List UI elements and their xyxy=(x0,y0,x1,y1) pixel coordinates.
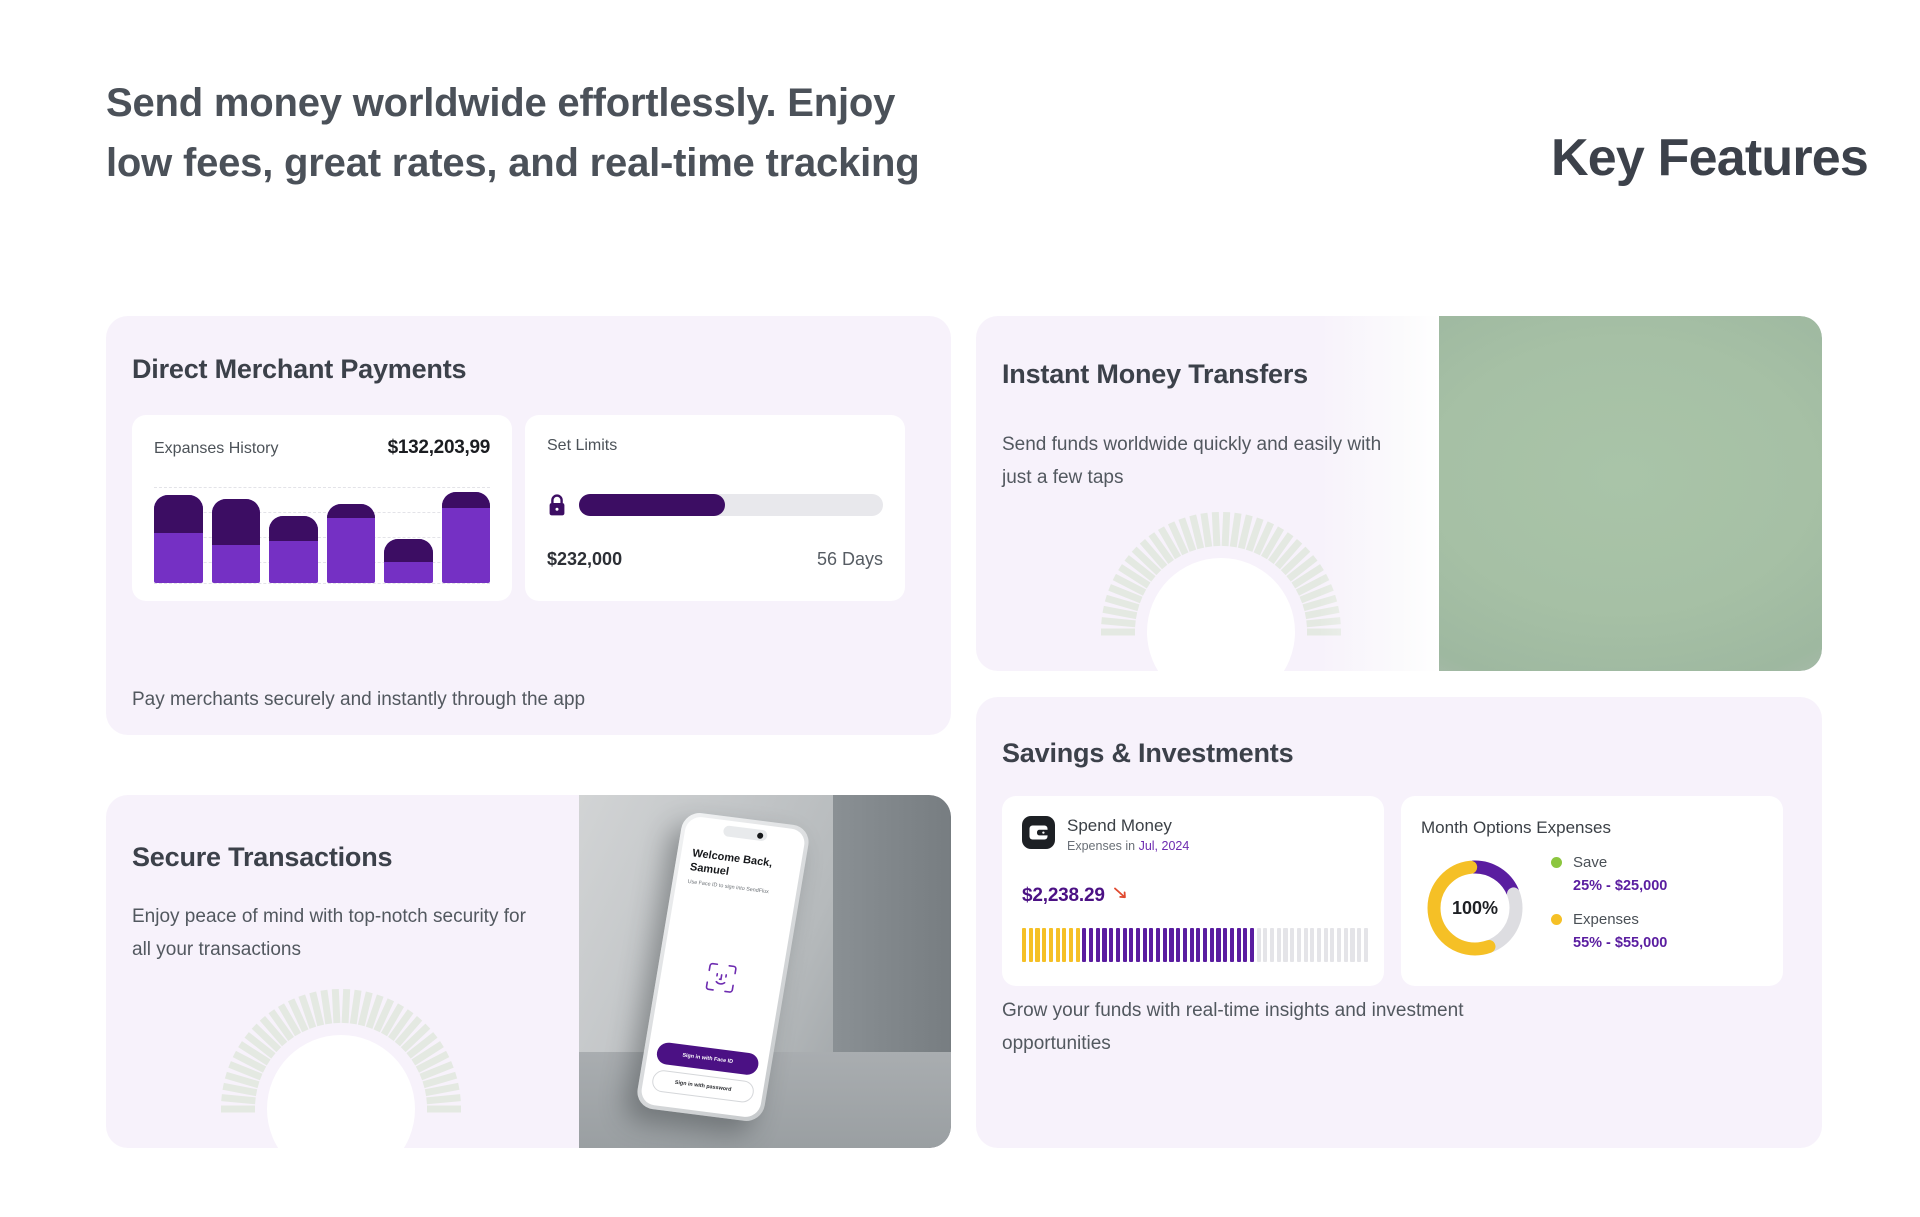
lock-icon xyxy=(547,493,567,517)
activity-strip-bar xyxy=(1062,928,1066,962)
sunburst-tick xyxy=(271,1011,291,1039)
chart-bar-top-segment xyxy=(384,539,433,562)
sunburst-tick xyxy=(1283,549,1308,572)
limit-slider-track[interactable] xyxy=(579,494,883,516)
activity-strip-bar xyxy=(1163,928,1167,962)
sunburst-tick xyxy=(1134,549,1159,572)
donut-center-value: 100% xyxy=(1421,854,1529,962)
sunburst-tick xyxy=(1293,567,1322,585)
secure-phone-photo: Welcome Back, Samuel Use Face ID to sign… xyxy=(579,795,951,1148)
activity-strip-bar xyxy=(1270,928,1274,962)
sunburst-tick xyxy=(1277,541,1299,567)
phone-notch xyxy=(723,825,768,841)
activity-strip-bar xyxy=(1203,928,1207,962)
activity-strip-bar xyxy=(1337,928,1341,962)
sunburst-tick xyxy=(1249,519,1260,551)
legend-dot xyxy=(1551,857,1562,868)
activity-strip-bar xyxy=(1277,928,1281,962)
chart-bar xyxy=(442,492,491,583)
chart-bar xyxy=(327,504,376,583)
chart-bar xyxy=(269,516,318,583)
sunburst-tick xyxy=(403,1026,428,1049)
sunburst-tick xyxy=(1193,515,1201,548)
limit-amount: $232,000 xyxy=(547,549,622,570)
panel-set-limits[interactable]: Set Limits $232,000 56 Days xyxy=(525,415,905,601)
sunburst-tick xyxy=(1142,541,1164,567)
sunburst-tick xyxy=(234,1054,264,1070)
activity-strip-bar xyxy=(1082,928,1086,962)
spend-period-prefix: Expenses in xyxy=(1067,839,1139,853)
card-caption-savings: Grow your funds with real-time insights … xyxy=(1002,994,1522,1060)
sunburst-tick xyxy=(384,1005,401,1034)
sunburst-tick xyxy=(397,1018,419,1044)
activity-strip-bar xyxy=(1129,928,1133,962)
sunburst-tick xyxy=(1204,513,1209,547)
legend-label: Expenses xyxy=(1573,911,1639,928)
activity-strip-bar xyxy=(1223,928,1227,962)
sunburst-tick xyxy=(1103,609,1136,615)
sunburst-tick xyxy=(223,1086,256,1092)
activity-strip-bar xyxy=(1109,928,1113,962)
sunburst-tick xyxy=(1127,558,1154,579)
activity-strip-bar xyxy=(1290,928,1294,962)
sunburst-tick xyxy=(302,996,313,1028)
chart-bars xyxy=(154,487,490,583)
activity-strip-bar xyxy=(1344,928,1348,962)
sunburst-tick xyxy=(377,1000,391,1031)
sunburst-tick xyxy=(1171,523,1185,554)
activity-strip-bar xyxy=(1297,928,1301,962)
sunburst-tick xyxy=(417,1054,447,1070)
sunburst-tick xyxy=(1106,598,1139,608)
activity-strip-bar xyxy=(1304,928,1308,962)
spend-money-amount-row: $2,238.29 xyxy=(1022,884,1129,907)
activity-strip-bar xyxy=(1176,928,1180,962)
panel-expanses-history[interactable]: Expanses History $132,203,99 xyxy=(132,415,512,601)
sunburst-tick xyxy=(391,1011,411,1039)
spend-money-period: Expenses in Jul, 2024 xyxy=(1067,839,1189,853)
activity-strip-bar xyxy=(1022,928,1026,962)
activity-strip-bar xyxy=(1330,928,1334,962)
activity-strip-bar xyxy=(1096,928,1100,962)
sunburst-tick xyxy=(313,992,321,1025)
sunburst-tick xyxy=(1151,534,1171,562)
spend-money-amount: $2,238.29 xyxy=(1022,885,1105,907)
activity-strip-bar xyxy=(1102,928,1106,962)
activity-strip-bar xyxy=(1049,928,1053,962)
spend-activity-strip xyxy=(1022,928,1368,962)
card-title-secure: Secure Transactions xyxy=(132,842,392,873)
panel-spend-money[interactable]: Spend Money Expenses in Jul, 2024 $2,238… xyxy=(1002,796,1384,986)
legend-value: 55% - $55,000 xyxy=(1573,935,1667,951)
sunburst-tick xyxy=(369,996,380,1028)
sunburst-tick xyxy=(1225,512,1227,546)
sunburst-tick xyxy=(240,1044,269,1062)
activity-strip-bar xyxy=(1190,928,1194,962)
activity-strip-bar xyxy=(1357,928,1361,962)
activity-strip-bar xyxy=(1076,928,1080,962)
sunburst-tick xyxy=(1271,534,1291,562)
sunburst-tick xyxy=(324,990,329,1024)
spend-money-name: Spend Money xyxy=(1067,816,1189,836)
activity-strip-bar xyxy=(1156,928,1160,962)
activity-strip-bar xyxy=(1123,928,1127,962)
sunburst-tick xyxy=(425,1086,458,1092)
set-limits-label: Set Limits xyxy=(547,437,617,455)
set-limits-footer: $232,000 56 Days xyxy=(547,549,883,570)
activity-strip-bar xyxy=(1069,928,1073,962)
expanses-history-label: Expanses History xyxy=(154,440,279,458)
instant-transfer-photo xyxy=(1439,316,1822,671)
panel-month-options-expenses[interactable]: Month Options Expenses 100% Save25% - $2… xyxy=(1401,796,1783,986)
activity-strip-bar xyxy=(1237,928,1241,962)
activity-strip-bar xyxy=(1210,928,1214,962)
expenses-donut-chart: 100% xyxy=(1421,854,1529,962)
activity-strip-bar xyxy=(1169,928,1173,962)
activity-strip-bar xyxy=(1136,928,1140,962)
legend-value: 25% - $25,000 xyxy=(1573,878,1667,894)
legend-item: Save xyxy=(1551,854,1667,871)
expanses-history-value: $132,203,99 xyxy=(388,437,490,459)
activity-strip-bar xyxy=(1310,928,1314,962)
expanses-bar-chart xyxy=(154,487,490,583)
sunburst-tick xyxy=(291,1000,305,1031)
phone-signin-password-button[interactable]: Sign in with password xyxy=(651,1069,756,1104)
chart-bar xyxy=(212,499,261,583)
activity-strip-bar xyxy=(1035,928,1039,962)
legend-dot xyxy=(1551,914,1562,925)
chart-bar-top-segment xyxy=(269,516,318,541)
sunburst-tick xyxy=(230,1064,262,1077)
set-limits-header: Set Limits xyxy=(547,437,883,455)
limit-slider-fill xyxy=(579,494,725,516)
sunburst-tick xyxy=(226,1075,259,1085)
sunburst-tick xyxy=(1161,528,1178,557)
spend-period-month: Jul, 2024 xyxy=(1139,839,1190,853)
expanses-history-header: Expanses History $132,203,99 xyxy=(154,437,490,459)
page-title: Send money worldwide effortlessly. Enjoy… xyxy=(106,73,936,193)
spend-money-header: Spend Money Expenses in Jul, 2024 xyxy=(1022,816,1368,853)
card-savings-investments[interactable]: Savings & Investments Spend Money Expens… xyxy=(976,697,1822,1148)
sunburst-tick xyxy=(424,1075,457,1085)
activity-strip-bar xyxy=(1350,928,1354,962)
chart-bar xyxy=(384,539,433,583)
chart-bar-top-segment xyxy=(212,499,261,545)
activity-strip-bar xyxy=(1324,928,1328,962)
activity-strip-bar xyxy=(1257,928,1261,962)
sunburst-tick xyxy=(1264,528,1281,557)
section-title: Key Features xyxy=(1551,128,1868,188)
spend-money-text-group: Spend Money Expenses in Jul, 2024 xyxy=(1067,816,1189,853)
card-caption-merchant: Pay merchants securely and instantly thr… xyxy=(132,683,585,716)
activity-strip-bar xyxy=(1089,928,1093,962)
activity-strip-bar xyxy=(1283,928,1287,962)
sunburst-tick xyxy=(335,989,337,1023)
activity-strip-bar xyxy=(1183,928,1187,962)
sunburst-tick xyxy=(427,1098,461,1101)
activity-strip-bar xyxy=(1317,928,1321,962)
chart-bar-top-segment xyxy=(327,504,376,517)
activity-strip-bar xyxy=(1056,928,1060,962)
sunburst-tick xyxy=(409,1035,436,1056)
activity-strip-bar xyxy=(1243,928,1247,962)
sunburst-tick xyxy=(1120,567,1149,585)
card-caption-secure: Enjoy peace of mind with top-notch secur… xyxy=(132,900,532,966)
sunburst-tick xyxy=(247,1035,274,1056)
sunburst-decoration-secure xyxy=(206,974,476,1148)
sunburst-decoration-instant xyxy=(1086,497,1356,671)
sunburst-tick xyxy=(1182,519,1193,551)
card-instant-money-transfers[interactable]: Instant Money Transfers Send funds world… xyxy=(976,316,1822,671)
activity-strip-bar xyxy=(1263,928,1267,962)
card-title-merchant: Direct Merchant Payments xyxy=(132,354,466,385)
sunburst-tick xyxy=(345,989,347,1023)
sunburst-tick xyxy=(254,1026,279,1049)
sunburst-tick xyxy=(413,1044,442,1062)
legend-label: Save xyxy=(1573,854,1607,871)
activity-strip-bar xyxy=(1042,928,1046,962)
chart-bar-top-segment xyxy=(154,495,203,533)
activity-strip-bar xyxy=(1196,928,1200,962)
sunburst-tick xyxy=(1241,515,1249,548)
chart-bar-top-segment xyxy=(442,492,491,508)
set-limits-slider-row[interactable] xyxy=(547,493,883,517)
card-direct-merchant-payments[interactable]: Direct Merchant Payments Expanses Histor… xyxy=(106,316,951,735)
sunburst-tick xyxy=(353,990,358,1024)
activity-strip-bar xyxy=(1029,928,1033,962)
sunburst-tick xyxy=(1102,621,1136,624)
sunburst-tick xyxy=(1289,558,1316,579)
activity-strip-bar xyxy=(1364,928,1368,962)
page-root: Send money worldwide effortlessly. Enjoy… xyxy=(0,0,1920,1217)
sunburst-tick xyxy=(421,1064,453,1077)
donut-legend: Save25% - $25,000Expenses55% - $55,000 xyxy=(1551,854,1667,968)
card-secure-transactions[interactable]: Secure Transactions Enjoy peace of mind … xyxy=(106,795,951,1148)
sunburst-tick xyxy=(1215,512,1217,546)
activity-strip-bar xyxy=(1116,928,1120,962)
month-options-title: Month Options Expenses xyxy=(1421,818,1611,838)
wallet-icon xyxy=(1022,816,1055,849)
sunburst-tick xyxy=(1110,587,1142,600)
chart-bar xyxy=(154,495,203,583)
activity-strip-bar xyxy=(1143,928,1147,962)
card-caption-instant: Send funds worldwide quickly and easily … xyxy=(1002,428,1402,494)
limit-duration: 56 Days xyxy=(817,549,883,570)
sunburst-tick xyxy=(262,1018,284,1044)
card-title-savings: Savings & Investments xyxy=(1002,738,1293,769)
activity-strip-bar xyxy=(1250,928,1254,962)
sunburst-tick xyxy=(1233,513,1238,547)
legend-item: Expenses xyxy=(1551,911,1667,928)
sunburst-tick xyxy=(281,1005,298,1034)
face-id-icon xyxy=(704,961,739,994)
sunburst-tick xyxy=(361,992,369,1025)
trend-down-arrow-icon xyxy=(1112,884,1129,907)
sunburst-tick xyxy=(222,1098,256,1101)
activity-strip-bar xyxy=(1149,928,1153,962)
activity-strip-bar xyxy=(1216,928,1220,962)
sunburst-tick xyxy=(1114,577,1144,593)
activity-strip-bar xyxy=(1230,928,1234,962)
sunburst-tick xyxy=(1257,523,1271,554)
card-title-instant: Instant Money Transfers xyxy=(1002,359,1308,390)
